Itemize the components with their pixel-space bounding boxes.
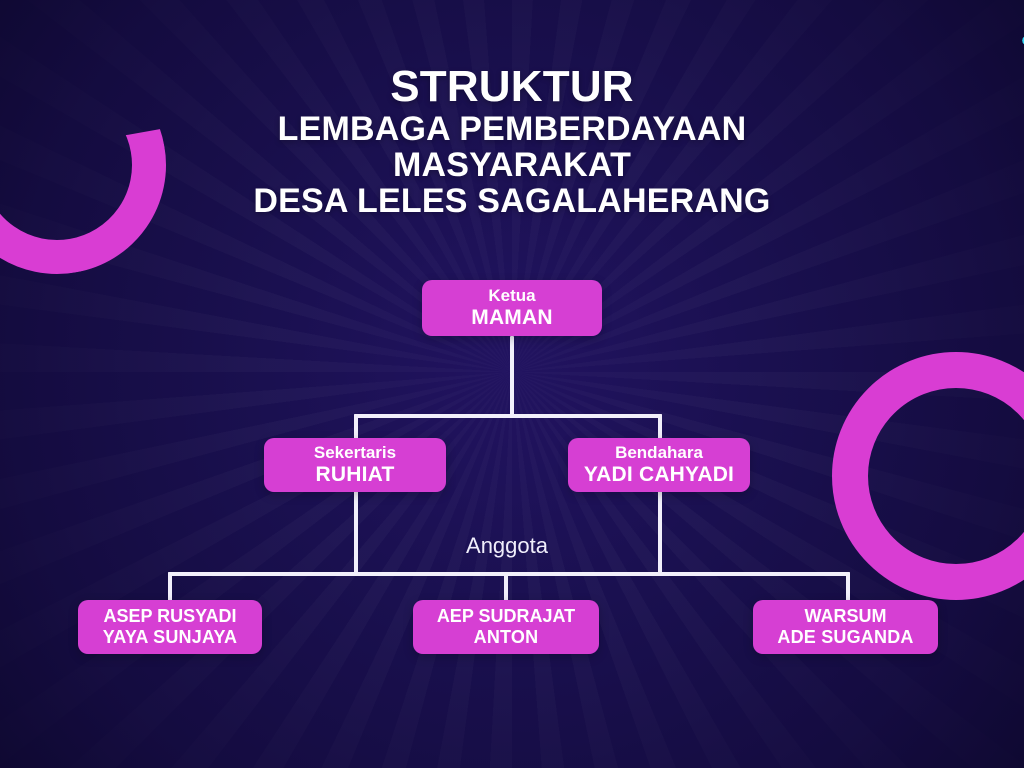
connector-ketua-down	[510, 336, 514, 416]
connector-drop-anggota-2	[504, 572, 508, 602]
node-sekertaris-name: RUHIAT	[316, 463, 395, 487]
connector-sekertaris-down	[354, 490, 358, 574]
connector-bendahara-down	[658, 490, 662, 574]
title-line-3: MASYARAKAT	[0, 147, 1024, 183]
node-bendahara-role: Bendahara	[615, 443, 703, 462]
title-line-4: DESA LELES SAGALAHERANG	[0, 183, 1024, 219]
node-anggota-3-line2: ADE SUGANDA	[777, 627, 913, 648]
anggota-group-label: Anggota	[412, 533, 602, 559]
connector-drop-bendahara	[658, 414, 662, 440]
node-bendahara-name: YADI CAHYADI	[584, 463, 734, 487]
node-anggota-3-line1: WARSUM	[805, 606, 887, 627]
connector-drop-anggota-3	[846, 572, 850, 602]
poster-canvas: STRUKTUR LEMBAGA PEMBERDAYAAN MASYARAKAT…	[0, 0, 1024, 768]
connector-level2-bus	[354, 414, 662, 418]
node-anggota-1-line1: ASEP RUSYADI	[103, 606, 236, 627]
node-anggota-1[interactable]: ASEP RUSYADI YAYA SUNJAYA	[78, 600, 262, 654]
node-ketua-role: Ketua	[488, 286, 535, 305]
node-anggota-2-line1: AEP SUDRAJAT	[437, 606, 575, 627]
connector-drop-sekertaris	[354, 414, 358, 440]
connector-anggota-bus	[168, 572, 850, 576]
connector-drop-anggota-1	[168, 572, 172, 602]
node-anggota-2-line2: ANTON	[474, 627, 539, 648]
node-bendahara[interactable]: Bendahara YADI CAHYADI	[568, 438, 750, 492]
title-line-2: LEMBAGA PEMBERDAYAAN	[0, 111, 1024, 147]
node-sekertaris[interactable]: Sekertaris RUHIAT	[264, 438, 446, 492]
node-ketua[interactable]: Ketua MAMAN	[422, 280, 602, 336]
node-anggota-3[interactable]: WARSUM ADE SUGANDA	[753, 600, 938, 654]
node-sekertaris-role: Sekertaris	[314, 443, 396, 462]
poster-title: STRUKTUR LEMBAGA PEMBERDAYAAN MASYARAKAT…	[0, 64, 1024, 219]
node-anggota-2[interactable]: AEP SUDRAJAT ANTON	[413, 600, 599, 654]
node-anggota-1-line2: YAYA SUNJAYA	[103, 627, 238, 648]
title-line-1: STRUKTUR	[0, 64, 1024, 111]
node-ketua-name: MAMAN	[471, 306, 552, 330]
